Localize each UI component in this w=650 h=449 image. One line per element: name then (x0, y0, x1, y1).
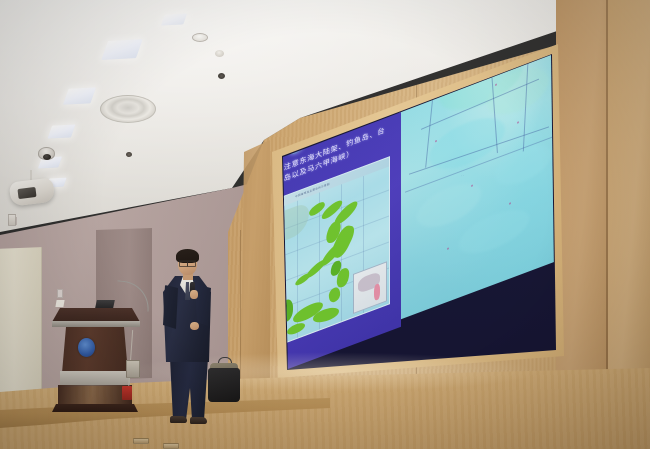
floor-power-outlet[interactable] (133, 438, 149, 444)
podium-base (58, 385, 132, 407)
podium-foot (52, 404, 138, 412)
presenter-shoe (190, 417, 207, 424)
rolling-bag (208, 368, 240, 402)
floor-power-outlet[interactable] (163, 443, 179, 449)
podium-trim-band (52, 321, 140, 327)
institution-emblem-icon (78, 338, 95, 357)
recessed-square-light (161, 13, 187, 25)
camera-lens-icon (43, 154, 51, 160)
presenter-hand (190, 322, 199, 330)
presenter-left-arm (163, 285, 178, 329)
control-box[interactable] (126, 360, 140, 378)
ceiling-sensor-icon (215, 50, 224, 57)
paper-sheet (55, 300, 64, 307)
red-equipment (122, 386, 132, 400)
laptop-on-podium (95, 300, 115, 308)
podium-top-surface (52, 308, 140, 322)
wall-bracket (8, 214, 16, 226)
light-switch-plate[interactable] (57, 289, 63, 298)
smoke-detector-icon (192, 33, 208, 42)
lecture-hall-photo: · · · · · · · · 中国海域图 （注意东海大陆架、钓鱼岛、台 湾岛以… (0, 0, 650, 449)
podium-lower-trim (60, 371, 130, 386)
sprinkler-head-icon (126, 152, 132, 157)
presenter-hand-holding-mic (190, 290, 198, 299)
eyeglasses-icon (179, 260, 196, 264)
sprinkler-head-icon (218, 73, 225, 79)
presenter-shoe (170, 416, 187, 423)
air-vent-icon (100, 95, 156, 123)
inset-submap (353, 261, 387, 314)
recessed-square-light (101, 39, 142, 60)
lectern (62, 327, 128, 373)
